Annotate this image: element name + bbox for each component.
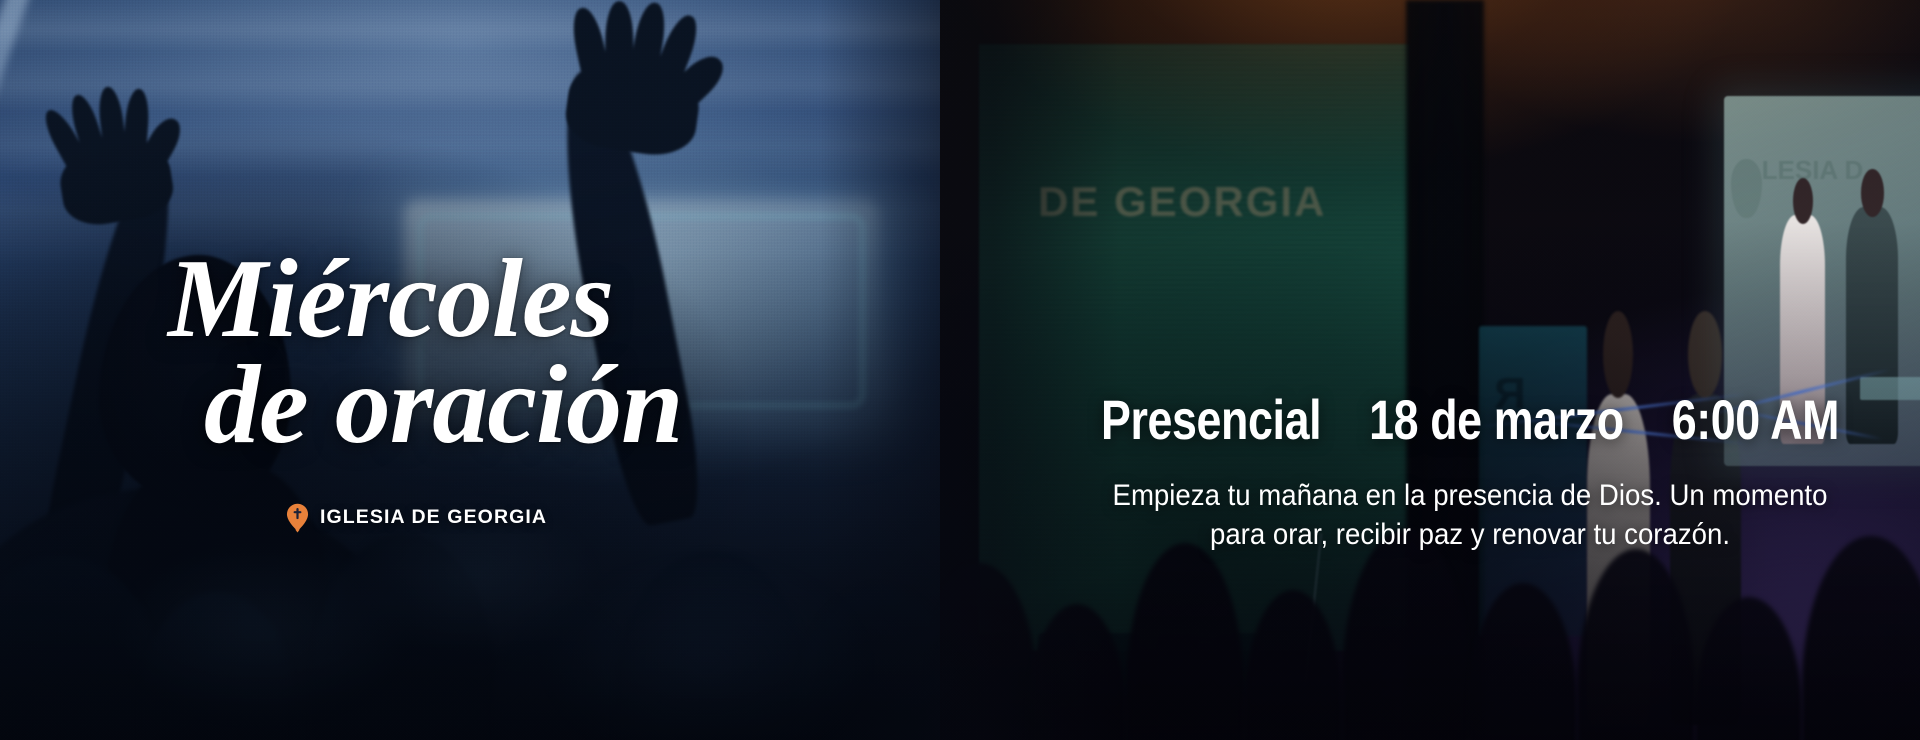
brand-lockup: IGLESIA DE GEORGIA <box>168 503 868 533</box>
event-details-block: Presencial 18 de marzo 6:00 AM Empieza t… <box>1020 392 1920 554</box>
headline-line-1: Miércoles <box>168 246 868 352</box>
event-meta-row: Presencial 18 de marzo 6:00 AM <box>1110 392 1830 448</box>
event-time: 6:00 AM <box>1672 392 1839 448</box>
brand-name: IGLESIA DE GEORGIA <box>320 506 547 529</box>
title-block: Miércoles de oración IGLESIA DE GEORGIA <box>168 246 868 533</box>
event-description: Empieza tu mañana en la presencia de Dio… <box>1097 476 1842 554</box>
headline-line-2: de oración <box>168 352 868 458</box>
event-promo-banner: DE GEORGIA LESIA D <box>0 0 1920 740</box>
location-pin-cross-icon <box>286 503 309 533</box>
event-modality: Presencial <box>1101 392 1321 448</box>
banner-content: Miércoles de oración IGLESIA DE GEORGIA … <box>0 0 1920 740</box>
page-title: Miércoles de oración <box>168 246 868 459</box>
event-date: 18 de marzo <box>1369 392 1624 448</box>
